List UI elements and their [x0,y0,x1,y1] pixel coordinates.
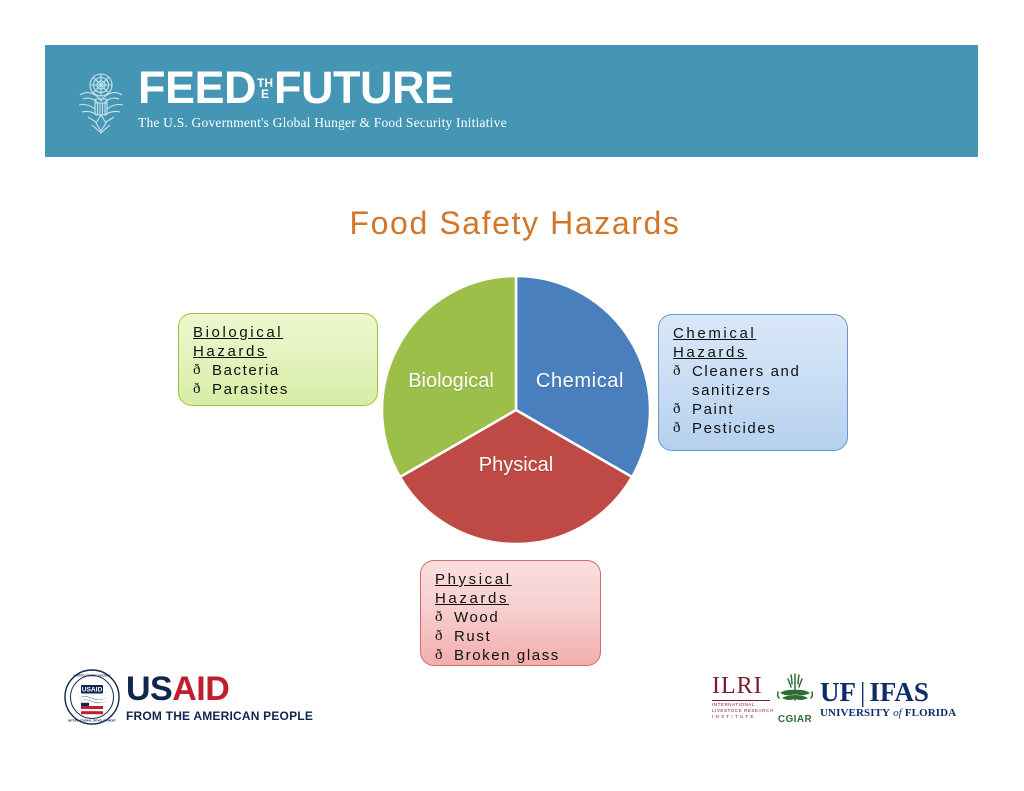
ftf-brand-line: FEED TH E FUTURE [138,65,468,111]
callout-chemical-hazards: Chemical Hazards ð Cleaners and sanitize… [658,314,848,451]
usaid-mark-text: USAID [126,672,313,706]
bullet-glyph-icon: ð [435,646,454,665]
uf-mark-uf: UF [820,677,856,707]
usaid-mark-us: US [126,670,172,708]
bullet-glyph-icon: ð [673,419,692,438]
callout-chemical-heading-line2: Hazards [673,343,837,362]
page-title: Food Safety Hazards [300,205,730,242]
callout-physical-hazards: Physical Hazards ð Wood ð Rust ð Broken … [420,560,601,666]
uf-mark-ifas: IFAS [869,677,929,707]
list-item: ð Parasites [193,380,367,399]
list-item: ð Cleaners and sanitizers [673,362,837,400]
feed-the-future-logo: FEED TH E FUTURE The U.S. Government's G… [70,59,470,143]
bullet-glyph-icon: ð [435,608,454,627]
food-safety-hazards-pie-chart: Biological Chemical Physical [380,274,652,546]
list-item-label: Rust [454,627,590,646]
uf-ifas-logo: UF|IFAS UNIVERSITYofFLORIDA [820,678,942,718]
ftf-the-bottom: E [261,89,269,100]
ilri-rule: INTERNATIONAL LIVESTOCK RESEARCH I N S T… [712,700,770,720]
callout-chemical-list: ð Cleaners and sanitizers ð Paint ð Pest… [673,362,837,438]
bullet-glyph-icon: ð [193,380,212,399]
feed-the-future-header-banner: FEED TH E FUTURE The U.S. Government's G… [45,45,978,157]
callout-biological-list: ð Bacteria ð Parasites [193,361,367,399]
pie-label-biological: Biological [392,370,510,393]
uf-sub-text: UNIVERSITYofFLORIDA [820,707,942,719]
usaid-mark-aid: AID [172,670,229,708]
list-item: ð Wood [435,608,590,627]
uf-ifas-mark-text: UF|IFAS [820,678,942,706]
bullet-glyph-icon: ð [673,362,692,381]
list-item: ð Broken glass [435,646,590,665]
cgiar-mark-text: CGIAR [772,714,818,725]
us-great-seal-icon [70,65,132,137]
bullet-glyph-icon: ð [193,361,212,380]
pie-label-chemical: Chemical [520,370,640,393]
uf-sub-of: of [893,707,902,719]
pie-chart-svg [380,274,652,546]
list-item-label: Wood [454,608,590,627]
callout-biological-heading-line2: Hazards [193,342,367,361]
ilri-sub-line3: I N S T I T U T E [712,714,770,720]
svg-text:INTERNATIONAL DEVELOPMENT: INTERNATIONAL DEVELOPMENT [68,719,116,723]
ftf-the-stack: TH E [257,78,273,100]
list-item-label: Cleaners and sanitizers [692,362,837,400]
ftf-feed-text: FEED [138,65,256,111]
usaid-wordmark: USAID FROM THE AMERICAN PEOPLE [126,672,313,723]
bullet-glyph-icon: ð [673,400,692,419]
callout-chemical-heading-line1: Chemical [673,324,837,343]
cgiar-logo: CGIAR [772,670,818,722]
usaid-seal-icon: USAID UNITED STATES AGENCY INTERNATIONAL… [64,669,120,725]
list-item-label: Pesticides [692,419,837,438]
ilri-mark-text: ILRI [712,674,770,698]
callout-physical-list: ð Wood ð Rust ð Broken glass [435,608,590,665]
svg-text:UNITED STATES AGENCY: UNITED STATES AGENCY [74,673,111,677]
pie-label-physical: Physical [456,454,576,477]
ilri-logo: ILRI INTERNATIONAL LIVESTOCK RESEARCH I … [712,674,770,722]
list-item: ð Pesticides [673,419,837,438]
list-item-label: Broken glass [454,646,590,665]
list-item-label: Bacteria [212,361,367,380]
feed-the-future-wordmark: FEED TH E FUTURE The U.S. Government's G… [138,65,468,131]
callout-biological-heading-line1: Biological [193,323,367,342]
uf-sub-university: UNIVERSITY [820,707,890,719]
callout-biological-hazards: Biological Hazards ð Bacteria ð Parasite… [178,313,378,406]
ftf-tagline: The U.S. Government's Global Hunger & Fo… [138,115,468,131]
list-item: ð Bacteria [193,361,367,380]
list-item-label: Paint [692,400,837,419]
svg-text:USAID: USAID [82,687,103,694]
callout-physical-heading-line2: Hazards [435,589,590,608]
list-item-label: Parasites [212,380,367,399]
callout-physical-heading-line1: Physical [435,570,590,589]
list-item: ð Paint [673,400,837,419]
uf-sub-florida: FLORIDA [905,707,956,719]
usaid-logo: USAID UNITED STATES AGENCY INTERNATIONAL… [64,668,276,726]
usaid-tagline: FROM THE AMERICAN PEOPLE [126,709,313,723]
ftf-future-text: FUTURE [274,65,453,111]
list-item: ð Rust [435,627,590,646]
cgiar-wheat-icon [774,670,816,708]
uf-mark-divider: | [856,677,869,707]
bullet-glyph-icon: ð [435,627,454,646]
slide-canvas: FEED TH E FUTURE The U.S. Government's G… [0,0,1024,791]
